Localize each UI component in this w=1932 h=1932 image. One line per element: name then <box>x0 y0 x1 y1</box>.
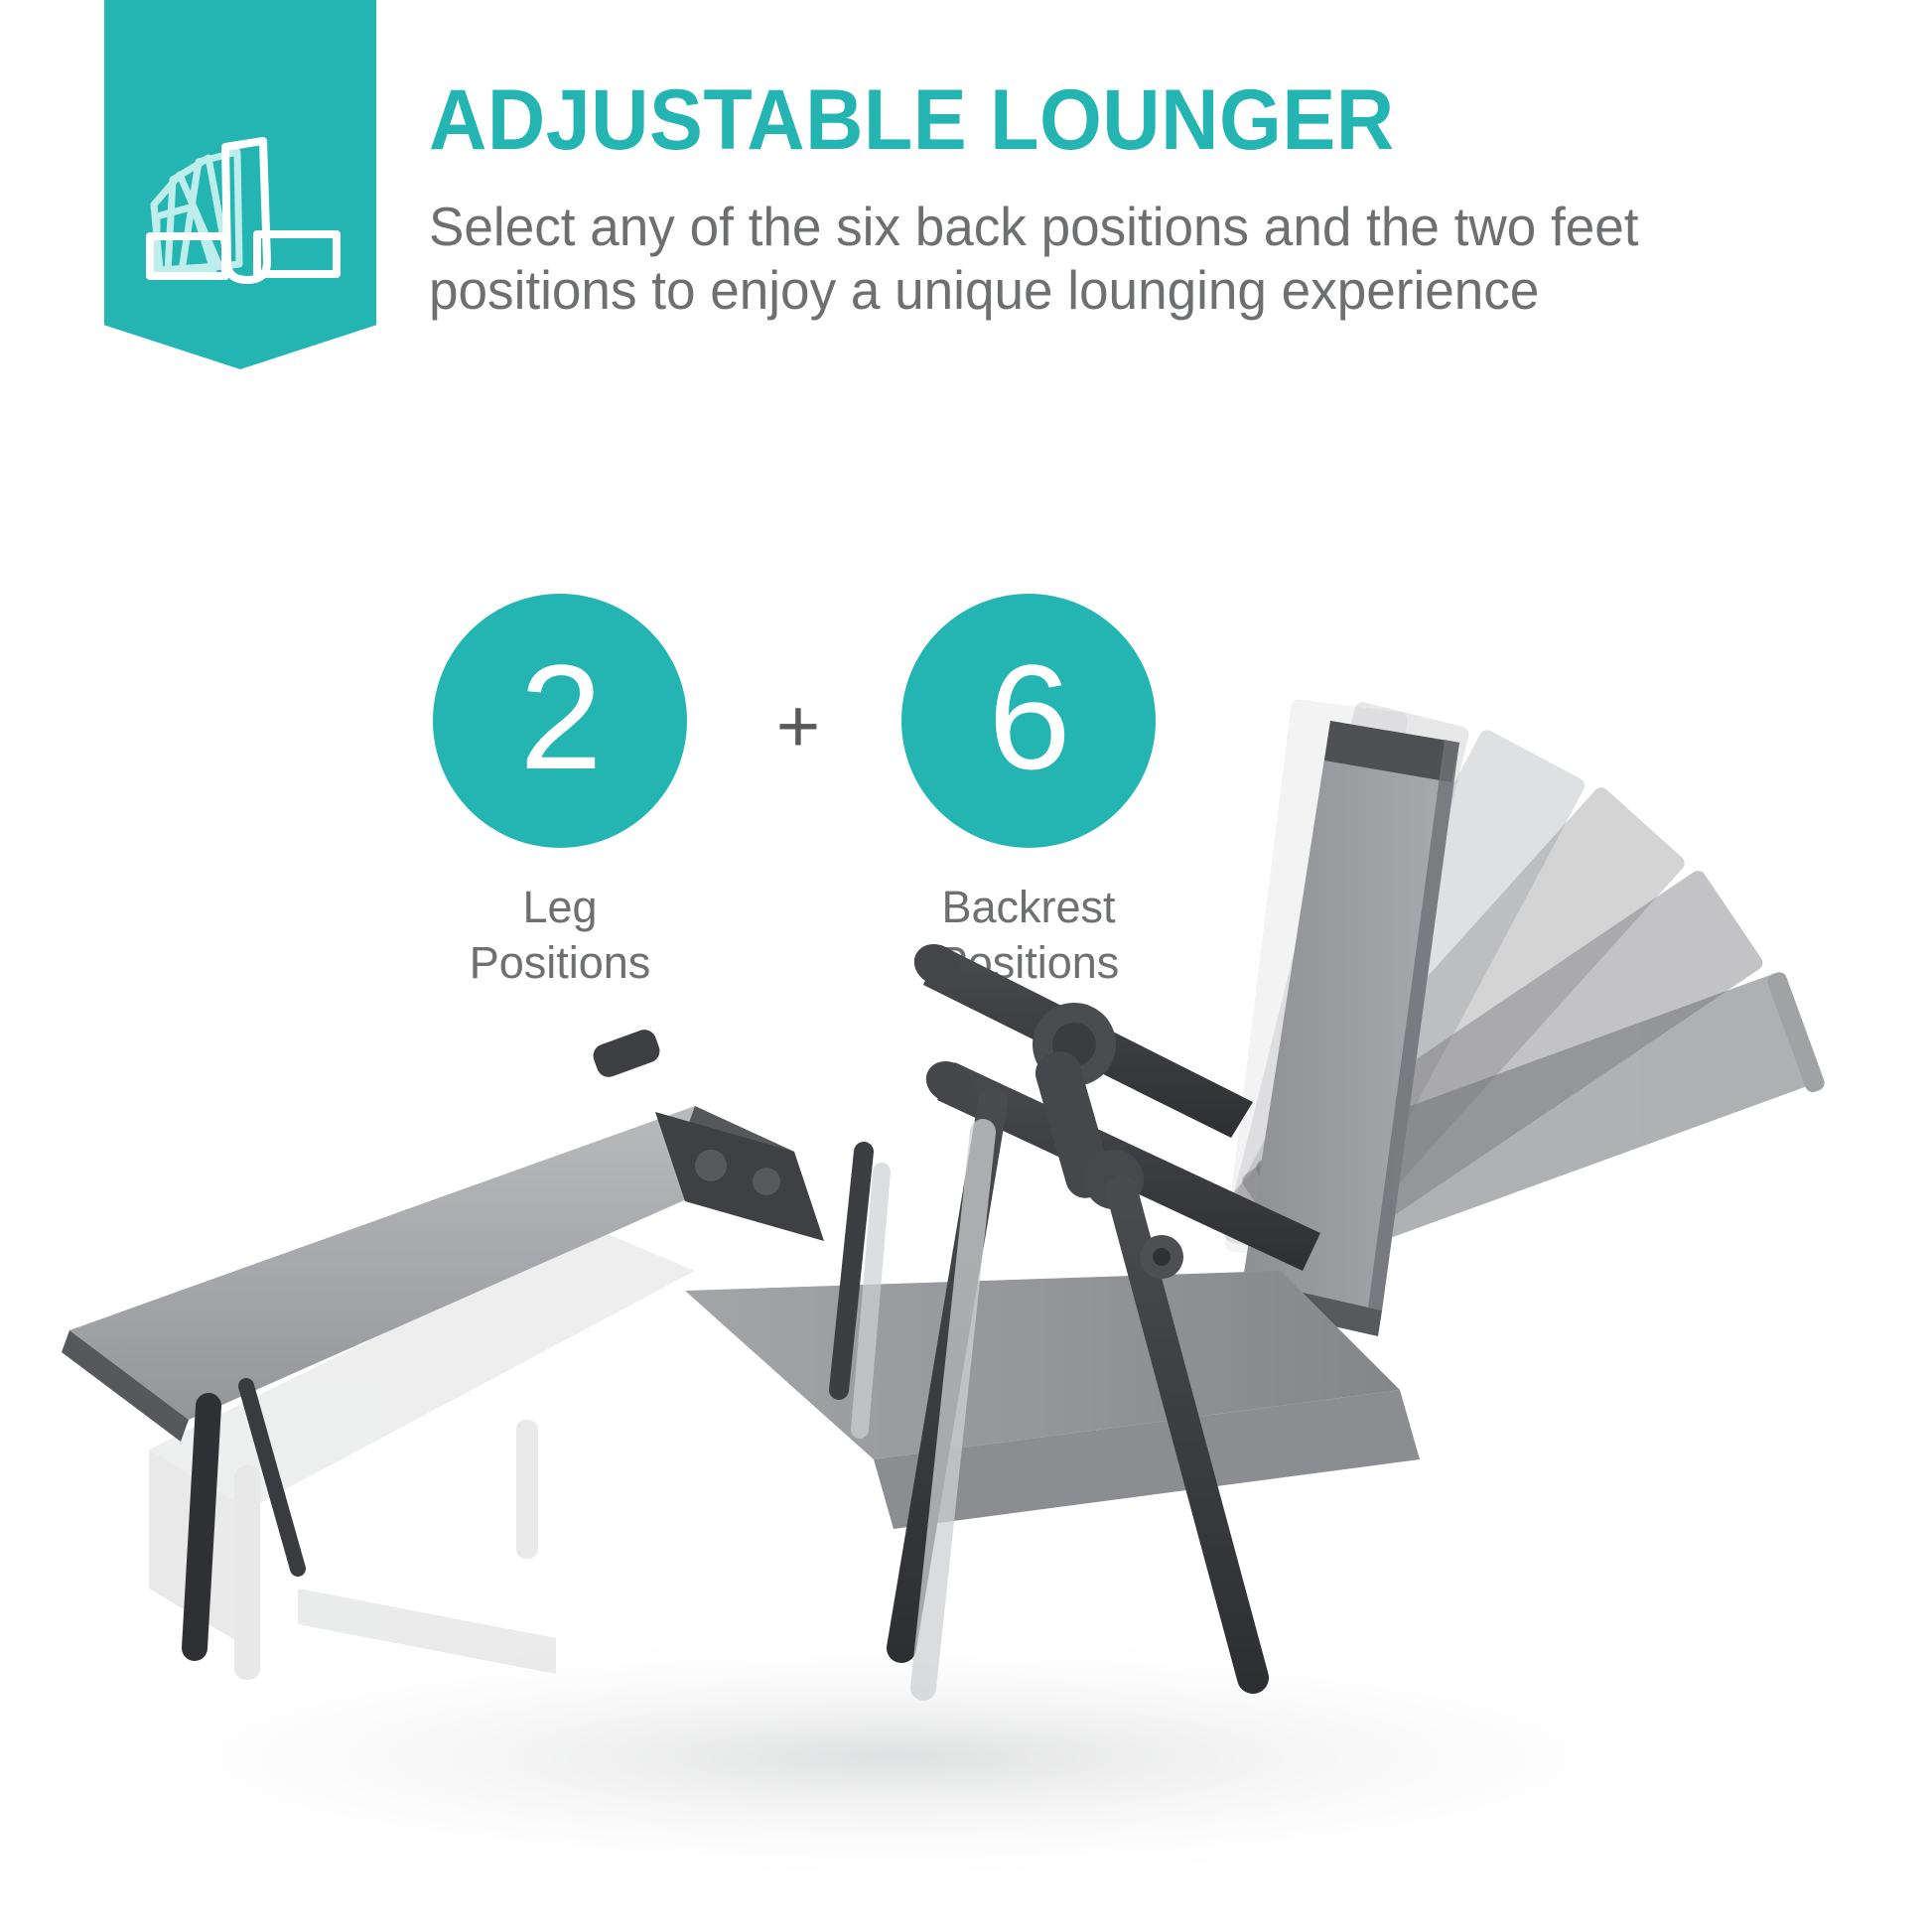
pull-handle <box>590 1027 663 1081</box>
seat-sling <box>685 1271 1420 1529</box>
adjustable-recliner-fan-icon <box>116 95 364 294</box>
subtitle-line-2: positions to enjoy a unique lounging exp… <box>429 258 1789 322</box>
subtitle-line-1: Select any of the six back positions and… <box>429 195 1789 258</box>
feature-badge <box>104 0 376 369</box>
floor-shadow <box>20 1628 1767 1886</box>
product-photo-lounger <box>0 635 1932 1932</box>
page-subtitle: Select any of the six back positions and… <box>429 195 1789 323</box>
infographic-canvas: ADJUSTABLE LOUNGER Select any of the six… <box>0 0 1932 1932</box>
page-title: ADJUSTABLE LOUNGER <box>429 77 1754 163</box>
lounger-illustration <box>0 635 1932 1932</box>
